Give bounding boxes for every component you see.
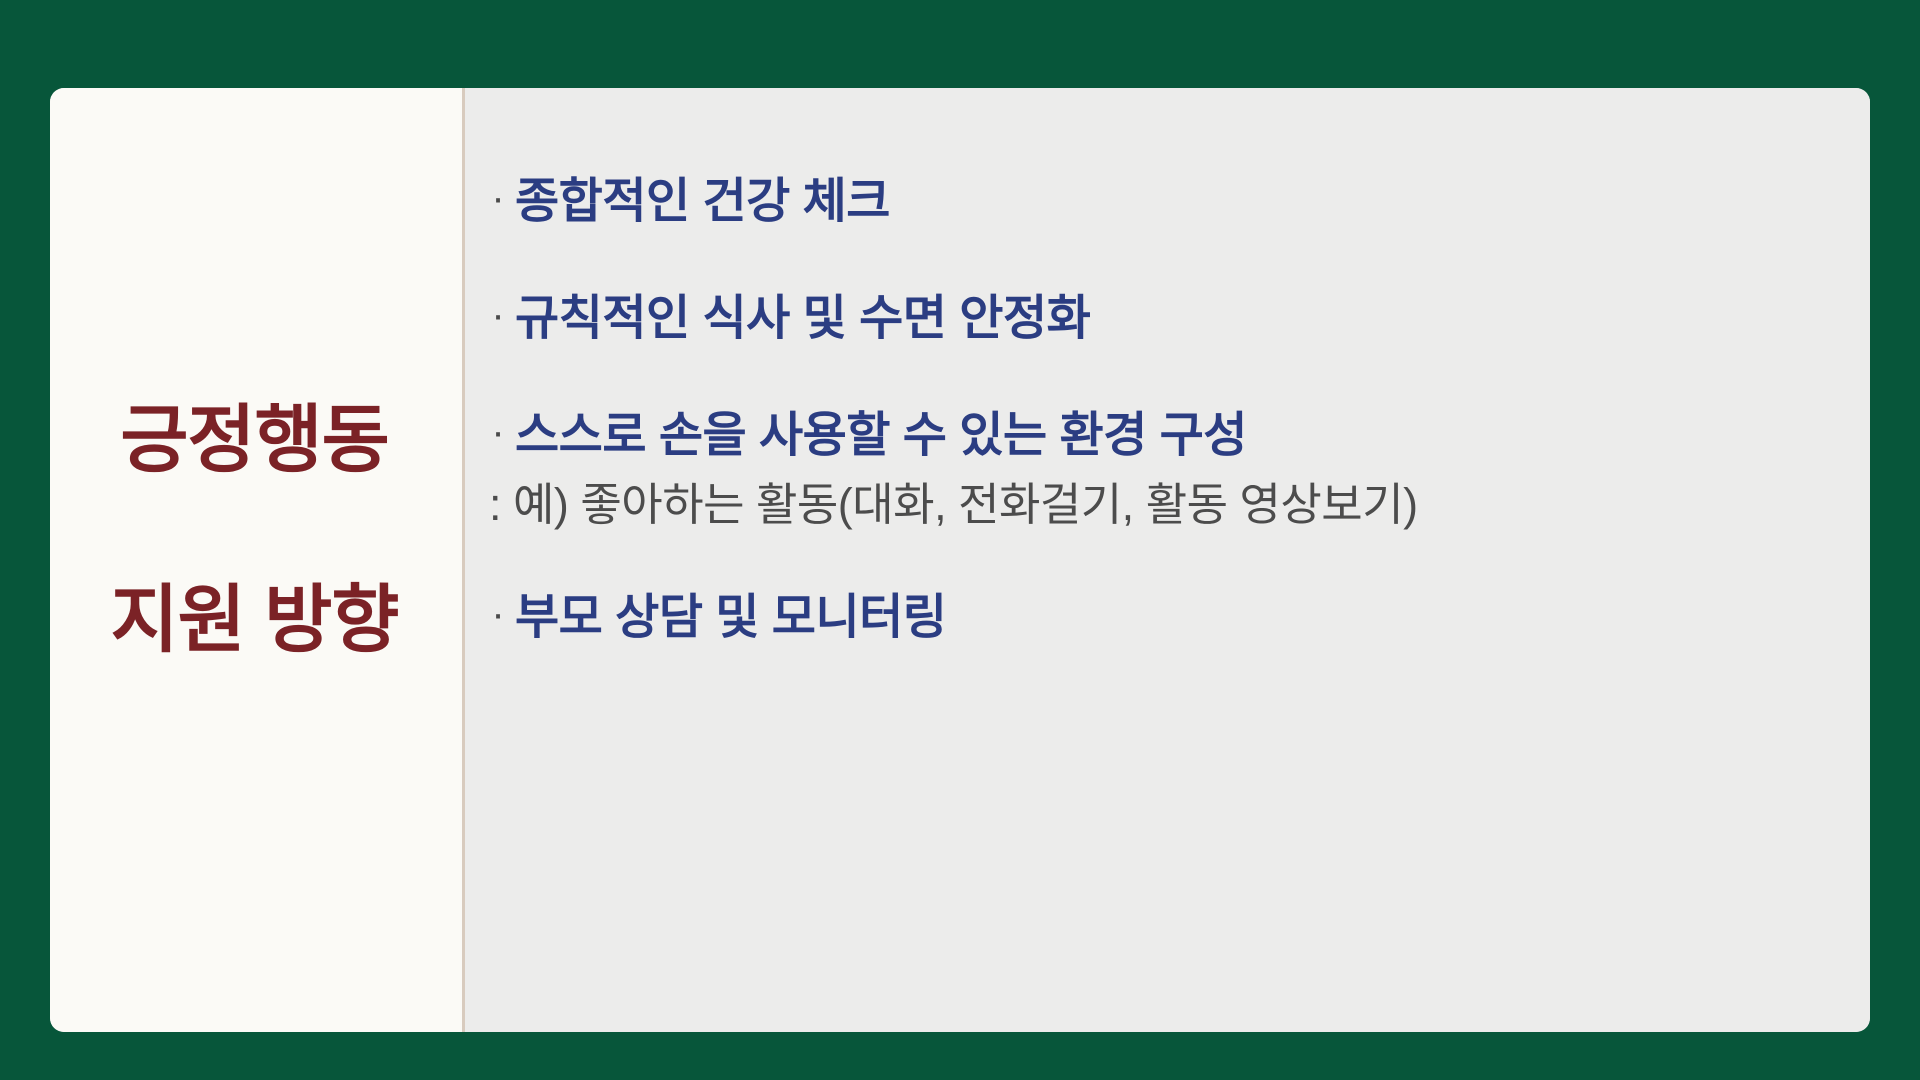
title-panel: 긍정행동 지원 방향	[50, 88, 465, 1032]
page-title: 긍정행동 지원 방향	[111, 304, 399, 815]
list-item-label: 부모 상담 및 모니터링	[515, 590, 946, 645]
bullet-dot-icon: ·	[481, 412, 515, 452]
list-item: · 스스로 손을 사용할 수 있는 환경 구성	[481, 408, 1830, 463]
list-item-label: 스스로 손을 사용할 수 있는 환경 구성	[515, 408, 1247, 463]
list-item: · 규칙적인 식사 및 수면 안정화	[481, 291, 1830, 346]
page-title-line-1: 긍정행동	[111, 395, 399, 485]
bullet-dot-icon: ·	[481, 594, 515, 634]
content-spacer	[481, 707, 1830, 992]
list-item: · 부모 상담 및 모니터링	[481, 590, 1830, 645]
bullet-dot-icon: ·	[481, 295, 515, 335]
content-panel: · 종합적인 건강 체크 · 규칙적인 식사 및 수면 안정화 · 스스로 손을…	[465, 88, 1870, 1032]
list-item-label: 종합적인 건강 체크	[515, 174, 890, 229]
list-item: · 종합적인 건강 체크	[481, 174, 1830, 229]
list-item-label: 규칙적인 식사 및 수면 안정화	[515, 291, 1090, 346]
list-item-example: : 예) 좋아하는 활동(대화, 전화걸기, 활동 영상보기)	[481, 478, 1830, 532]
list-item-example-label: : 예) 좋아하는 활동(대화, 전화걸기, 활동 영상보기)	[489, 478, 1418, 532]
bullet-dot-icon: ·	[481, 178, 515, 218]
slide-root: 긍정행동 지원 방향 · 종합적인 건강 체크 · 규칙적인 식사 및 수면 안…	[0, 0, 1920, 1080]
content-card: 긍정행동 지원 방향 · 종합적인 건강 체크 · 규칙적인 식사 및 수면 안…	[50, 88, 1870, 1032]
page-title-line-2: 지원 방향	[111, 575, 399, 665]
